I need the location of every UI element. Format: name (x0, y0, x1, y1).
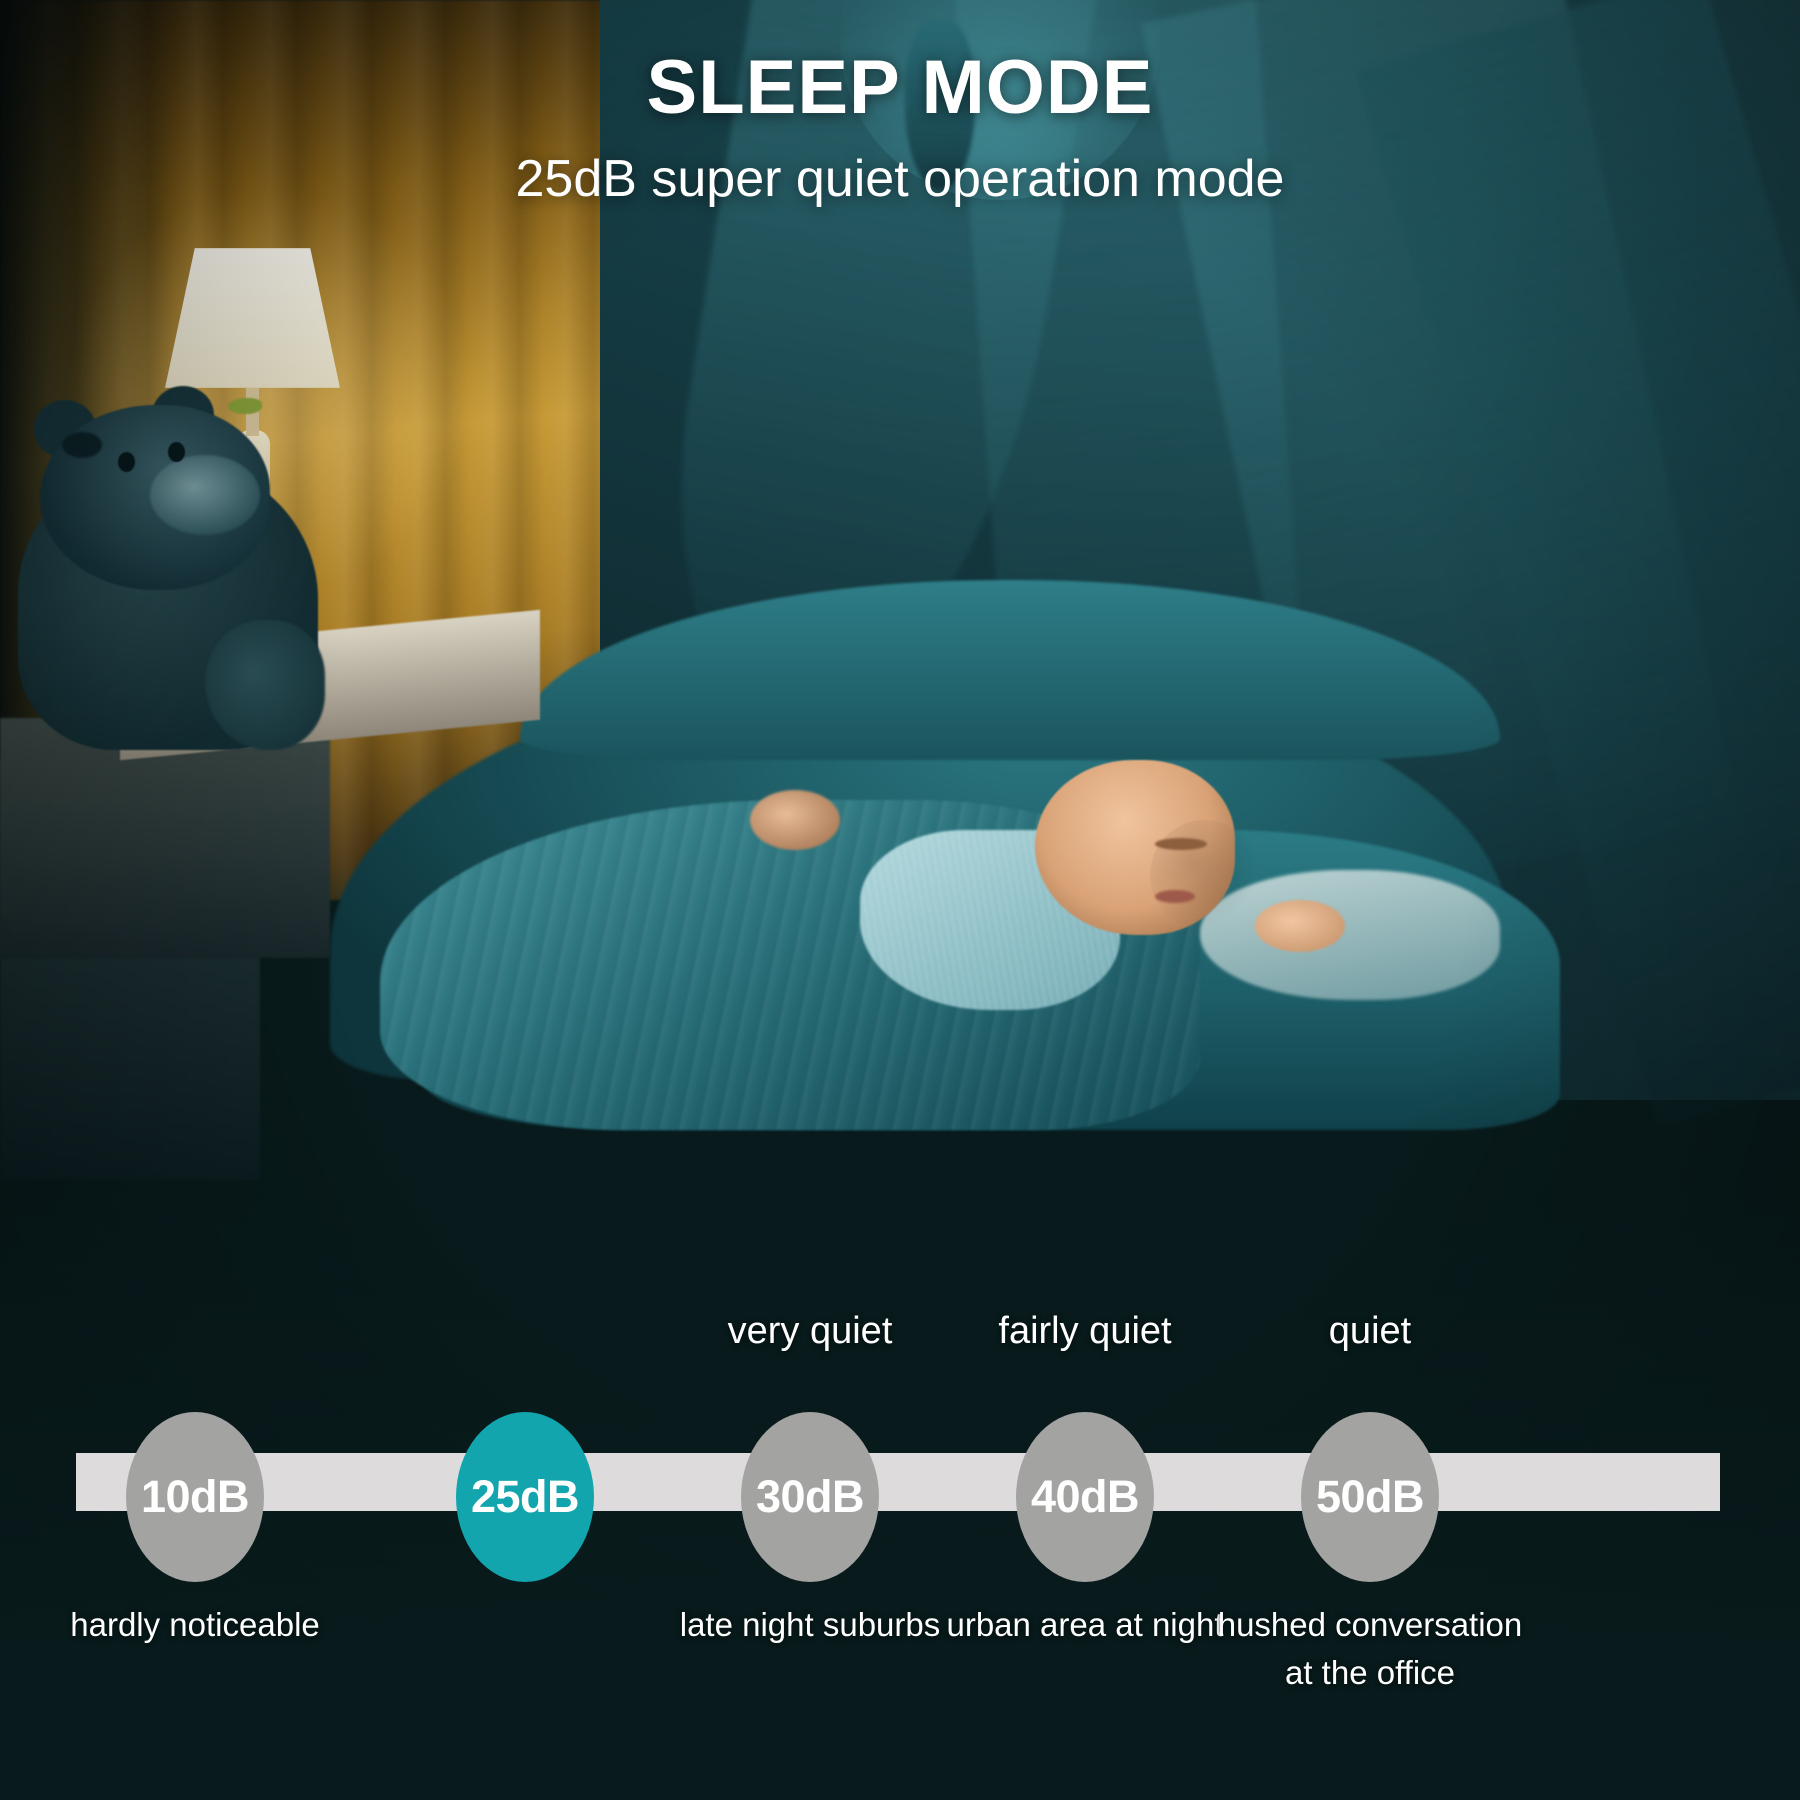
scale-track-bar (76, 1453, 1720, 1511)
scale-bottom-label: hushed conversationat the office (1218, 1601, 1523, 1697)
scale-node-default[interactable]: 40dB (1016, 1412, 1154, 1582)
scale-bottom-label: late night suburbs (680, 1601, 941, 1649)
scale-node-default[interactable]: 10dB (126, 1412, 264, 1582)
scale-bottom-label: urban area at night (946, 1601, 1223, 1649)
scale-bottom-label-line1: late night suburbs (680, 1606, 941, 1643)
scale-top-label: quiet (1329, 1310, 1411, 1353)
scale-bottom-label-line1: urban area at night (946, 1606, 1223, 1643)
scale-node-default[interactable]: 50dB (1301, 1412, 1439, 1582)
scale-node-default[interactable]: 30dB (741, 1412, 879, 1582)
scale-top-label: fairly quiet (998, 1310, 1171, 1353)
scale-node-highlighted[interactable]: 25dB (456, 1412, 594, 1582)
scale-bottom-label-line1: hushed conversation (1218, 1606, 1523, 1643)
scale-bottom-label-line2: at the office (1218, 1649, 1523, 1697)
scale-bottom-label: hardly noticeable (70, 1601, 320, 1649)
scale-top-label: very quiet (728, 1310, 893, 1353)
scale-bottom-label-line1: hardly noticeable (70, 1606, 320, 1643)
decibel-scale: 10dBhardly noticeable25dBvery quiet30dBl… (0, 0, 1800, 1800)
sleep-mode-infographic: SLEEP MODE 25dB super quiet operation mo… (0, 0, 1800, 1800)
